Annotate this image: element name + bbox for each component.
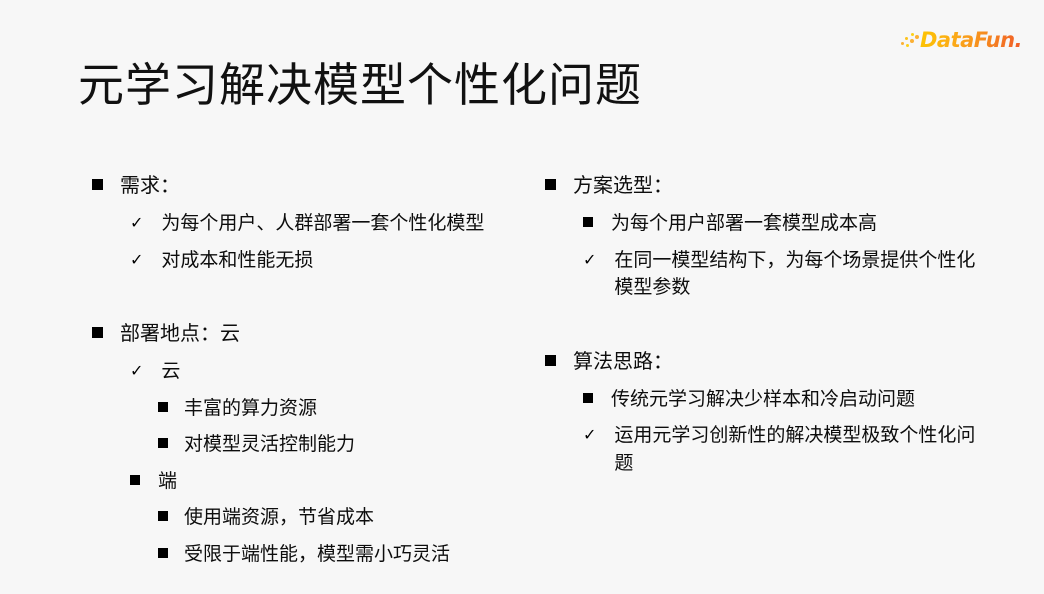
bullet-text: 在同一模型结构下，为每个场景提供个性化模型参数 bbox=[614, 247, 990, 302]
check-bullet-icon: ✓ bbox=[583, 427, 596, 443]
check-bullet-icon: ✓ bbox=[130, 215, 143, 231]
bullet-line: 使用端资源，节省成本 bbox=[92, 504, 532, 532]
bullet-line: ✓ 在同一模型结构下，为每个场景提供个性化模型参数 bbox=[545, 247, 990, 302]
square-bullet-icon bbox=[158, 438, 168, 448]
check-bullet-icon: ✓ bbox=[130, 252, 143, 268]
bullet-line: 端 bbox=[92, 468, 532, 496]
bullet-line: ✓ 运用元学习创新性的解决模型极致个性化问题 bbox=[545, 422, 990, 477]
right-column: 方案选型： 为每个用户部署一套模型成本高 ✓ 在同一模型结构下，为每个场景提供个… bbox=[545, 172, 990, 501]
square-bullet-icon bbox=[583, 393, 593, 403]
block-spacer bbox=[545, 326, 990, 348]
bullet-line: 算法思路： bbox=[545, 348, 990, 377]
square-bullet-icon bbox=[158, 511, 168, 521]
right-block-solution: 方案选型： 为每个用户部署一套模型成本高 ✓ 在同一模型结构下，为每个场景提供个… bbox=[545, 172, 990, 302]
square-bullet-icon bbox=[130, 475, 140, 485]
bullet-text: 为每个用户、人群部署一套个性化模型 bbox=[161, 210, 484, 238]
bullet-text: 为每个用户部署一套模型成本高 bbox=[611, 210, 877, 238]
bullet-line: 受限于端性能，模型需小巧灵活 bbox=[92, 541, 532, 569]
logo-text: DataFun. bbox=[920, 30, 1022, 51]
check-bullet-icon: ✓ bbox=[583, 252, 596, 268]
bullet-line: 部署地点：云 bbox=[92, 320, 532, 349]
check-bullet-icon: ✓ bbox=[130, 363, 143, 379]
datafun-logo: DataFun. bbox=[901, 26, 1022, 54]
right-block-algorithm: 算法思路： 传统元学习解决少样本和冷启动问题 ✓ 运用元学习创新性的解决模型极致… bbox=[545, 348, 990, 478]
square-bullet-icon bbox=[158, 548, 168, 558]
slide-canvas: DataFun. 元学习解决模型个性化问题 需求： ✓ 为每个用户、人群部署一套… bbox=[0, 0, 1044, 594]
bullet-text: 云 bbox=[161, 358, 180, 386]
left-block-requirements: 需求： ✓ 为每个用户、人群部署一套个性化模型 ✓ 对成本和性能无损 bbox=[92, 172, 532, 274]
bullet-line: ✓ 云 bbox=[92, 358, 532, 386]
square-bullet-icon bbox=[158, 402, 168, 412]
bullet-text: 端 bbox=[158, 468, 177, 496]
block-spacer bbox=[92, 298, 532, 320]
page-title: 元学习解决模型个性化问题 bbox=[78, 58, 642, 113]
bullet-line: 为每个用户部署一套模型成本高 bbox=[545, 210, 990, 238]
bullet-line: 需求： bbox=[92, 172, 532, 201]
bullet-line: ✓ 为每个用户、人群部署一套个性化模型 bbox=[92, 210, 532, 238]
square-bullet-icon bbox=[545, 179, 556, 190]
square-bullet-icon bbox=[92, 179, 103, 190]
square-bullet-icon bbox=[545, 355, 556, 366]
bullet-line: 丰富的算力资源 bbox=[92, 395, 532, 423]
square-bullet-icon bbox=[583, 217, 593, 227]
bullet-text: 运用元学习创新性的解决模型极致个性化问题 bbox=[614, 422, 990, 477]
bullet-line: ✓ 对成本和性能无损 bbox=[92, 247, 532, 275]
bullet-line: 传统元学习解决少样本和冷启动问题 bbox=[545, 386, 990, 414]
bullet-line: 方案选型： bbox=[545, 172, 990, 201]
left-block-deployment: 部署地点：云 ✓ 云 丰富的算力资源 对模型灵活控制能力 bbox=[92, 320, 532, 568]
bullet-text: 丰富的算力资源 bbox=[184, 395, 317, 423]
bullet-text: 对模型灵活控制能力 bbox=[184, 431, 355, 459]
bullet-line: 对模型灵活控制能力 bbox=[92, 431, 532, 459]
logo-dots-icon bbox=[901, 31, 919, 49]
bullet-text: 需求： bbox=[120, 172, 180, 201]
bullet-text: 受限于端性能，模型需小巧灵活 bbox=[184, 541, 450, 569]
left-column: 需求： ✓ 为每个用户、人群部署一套个性化模型 ✓ 对成本和性能无损 bbox=[92, 172, 532, 592]
bullet-text: 使用端资源，节省成本 bbox=[184, 504, 374, 532]
bullet-text: 算法思路： bbox=[573, 348, 673, 377]
bullet-text: 对成本和性能无损 bbox=[161, 247, 313, 275]
bullet-text: 方案选型： bbox=[573, 172, 673, 201]
bullet-text: 部署地点：云 bbox=[120, 320, 240, 349]
bullet-text: 传统元学习解决少样本和冷启动问题 bbox=[611, 386, 915, 414]
square-bullet-icon bbox=[92, 327, 103, 338]
